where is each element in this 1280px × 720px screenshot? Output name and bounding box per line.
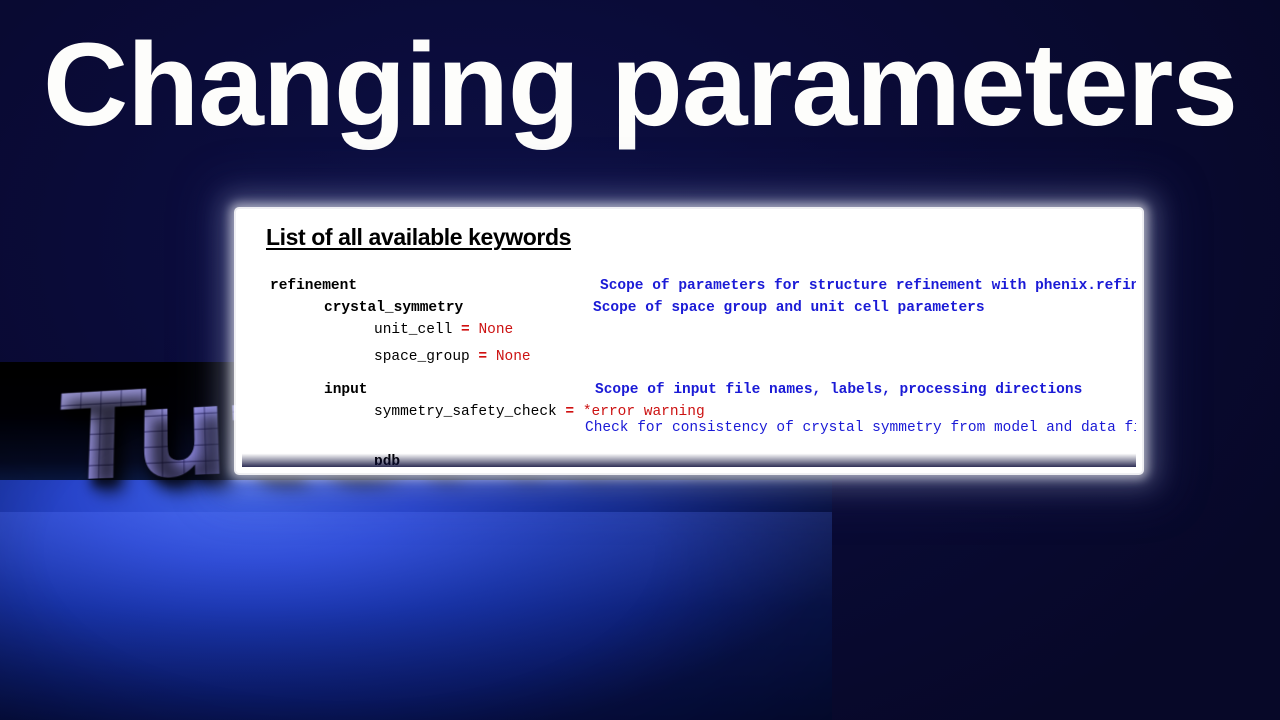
keyword-entry[interactable]: crystal_symmetry (324, 301, 463, 316)
keyword-name: symmetry_safety_check (374, 404, 557, 420)
keyword-equals-sign: = (470, 349, 496, 365)
presentation-slide: Changing parameters Tutorial Tutorial Li… (0, 0, 1280, 720)
keyword-value[interactable]: None (496, 349, 531, 365)
tutorial-word-reflection: Tutorial (55, 560, 755, 720)
keyword-equals-sign: = (557, 404, 583, 420)
keyword-description: Scope of space group and unit cell param… (593, 301, 985, 316)
keyword-name: space_group (374, 349, 470, 365)
keyword-description: Scope of parameters for structure refine… (600, 279, 1136, 294)
keyword-entry[interactable]: refinement (270, 279, 357, 294)
keyword-name: unit_cell (374, 322, 452, 338)
keyword-equals-sign: = (452, 322, 478, 338)
page-title: Changing parameters (0, 26, 1280, 144)
keyword-name: pdb (374, 454, 400, 465)
keyword-entry[interactable]: space_group = None (374, 350, 531, 365)
keyword-value[interactable]: *error warning (583, 404, 705, 420)
keyword-name: refinement (270, 278, 357, 294)
keyword-value[interactable]: None (478, 322, 513, 338)
panel-heading: List of all available keywords (266, 224, 571, 251)
keyword-description: Scope of input file names, labels, proce… (595, 383, 1082, 398)
keyword-description: Check for consistency of crystal symmetr… (585, 421, 1136, 436)
keyword-entry[interactable]: pdb (374, 455, 400, 465)
keyword-panel: List of all available keywords refinemen… (242, 215, 1136, 465)
keyword-name: input (324, 382, 368, 398)
keyword-entry[interactable]: input (324, 383, 368, 398)
keyword-entry[interactable]: symmetry_safety_check = *error warning (374, 405, 705, 420)
keyword-name: crystal_symmetry (324, 300, 463, 316)
keyword-entry[interactable]: unit_cell = None (374, 323, 513, 338)
